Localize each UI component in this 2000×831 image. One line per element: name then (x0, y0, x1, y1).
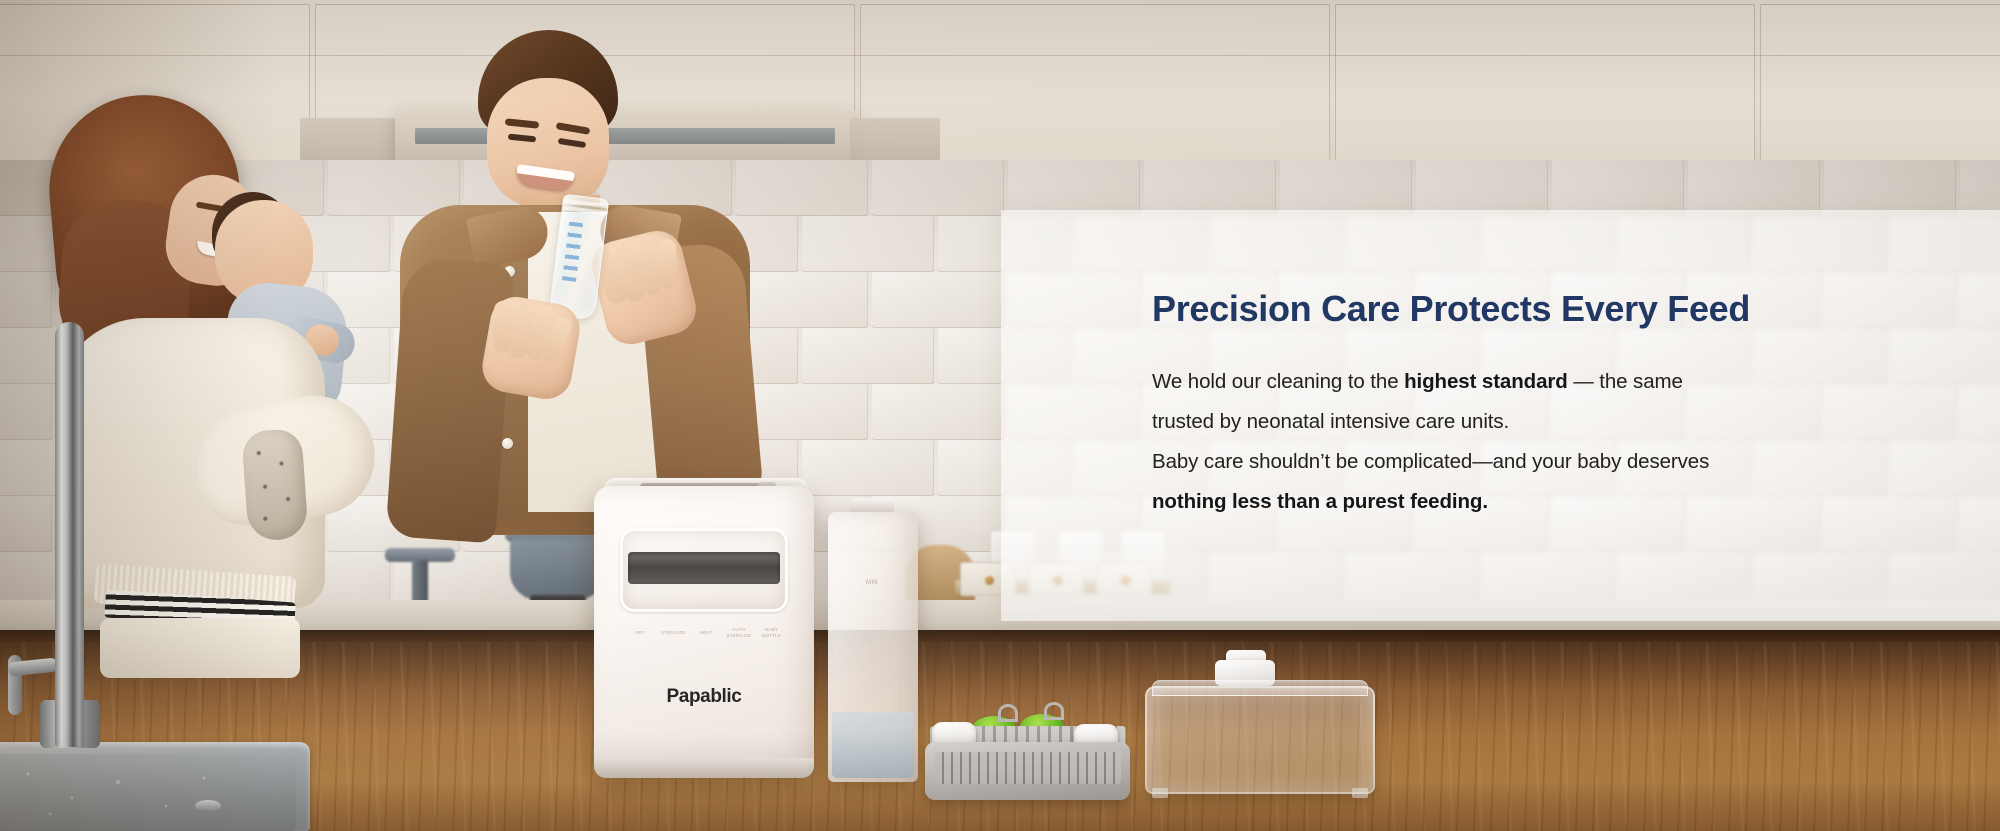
hood-vent-strip (415, 128, 835, 144)
sterilizer-control-panel[interactable]: DRY STERILIZE HEAT AUTO STERILIZE BABY B… (624, 622, 788, 644)
father-left-hand (478, 293, 583, 403)
bottle-measurement-marks (561, 222, 583, 289)
control-label-bottle[interactable]: BABY BOTTLE (757, 627, 787, 638)
storage-foot (1152, 788, 1168, 798)
faucet-spout (55, 322, 84, 747)
body-line-4: nothing less than a purest feeding. (1152, 482, 1852, 522)
shirt-button (502, 438, 513, 449)
bottle-clip (1044, 702, 1064, 720)
sterilizer-base (594, 758, 814, 778)
bottle-clip (998, 704, 1018, 722)
sterilizer-display (628, 552, 780, 584)
baby-shoe-dots (241, 428, 309, 542)
sink-drain-plug (195, 800, 221, 811)
mother-pants (100, 618, 300, 678)
product-brand-label: Papablic (594, 686, 814, 708)
text-overlay-panel: Precision Care Protects Every Feed We ho… (1001, 210, 2000, 621)
finger (657, 238, 679, 289)
body-line-1-bold: highest standard (1404, 370, 1568, 393)
body-line-1: We hold our cleaning to the highest stan… (1152, 362, 1852, 402)
father-sleeve-left (385, 257, 514, 544)
cabinet-door (1760, 4, 2000, 164)
body-copy: We hold our cleaning to the highest stan… (1152, 362, 1852, 522)
body-line-1-part-1: We hold our cleaning to the (1152, 370, 1404, 393)
cooking-pot (510, 538, 605, 600)
control-label-sterilize[interactable]: STERILIZE (658, 630, 688, 636)
control-label-auto[interactable]: AUTO STERILIZE (724, 627, 754, 638)
drawer-knob (985, 576, 994, 585)
tank-min-label: MIN (846, 580, 898, 586)
clear-storage-cover (1145, 686, 1375, 794)
cabinet-door (1335, 4, 1755, 164)
headline: Precision Care Protects Every Feed (1152, 288, 1750, 330)
sink-basin (0, 754, 296, 831)
tank-water-level (832, 712, 914, 778)
body-line-1-part-2: — the same (1568, 370, 1683, 393)
baby-shoe (241, 428, 309, 542)
body-line-2: trusted by neonatal intensive care units… (1152, 402, 1852, 442)
water-droplets (0, 754, 296, 831)
cabinet-seam (0, 55, 2000, 56)
storage-foot (1352, 788, 1368, 798)
rack-slots (935, 752, 1121, 784)
kitchen-sink (0, 742, 310, 831)
body-line-3: Baby care shouldn’t be complicated—and y… (1152, 442, 1852, 482)
control-label-dry[interactable]: DRY (625, 630, 655, 636)
control-label-heat[interactable]: HEAT (691, 630, 721, 636)
promo-banner: DRY STERILIZE HEAT AUTO STERILIZE BABY B… (0, 0, 2000, 831)
